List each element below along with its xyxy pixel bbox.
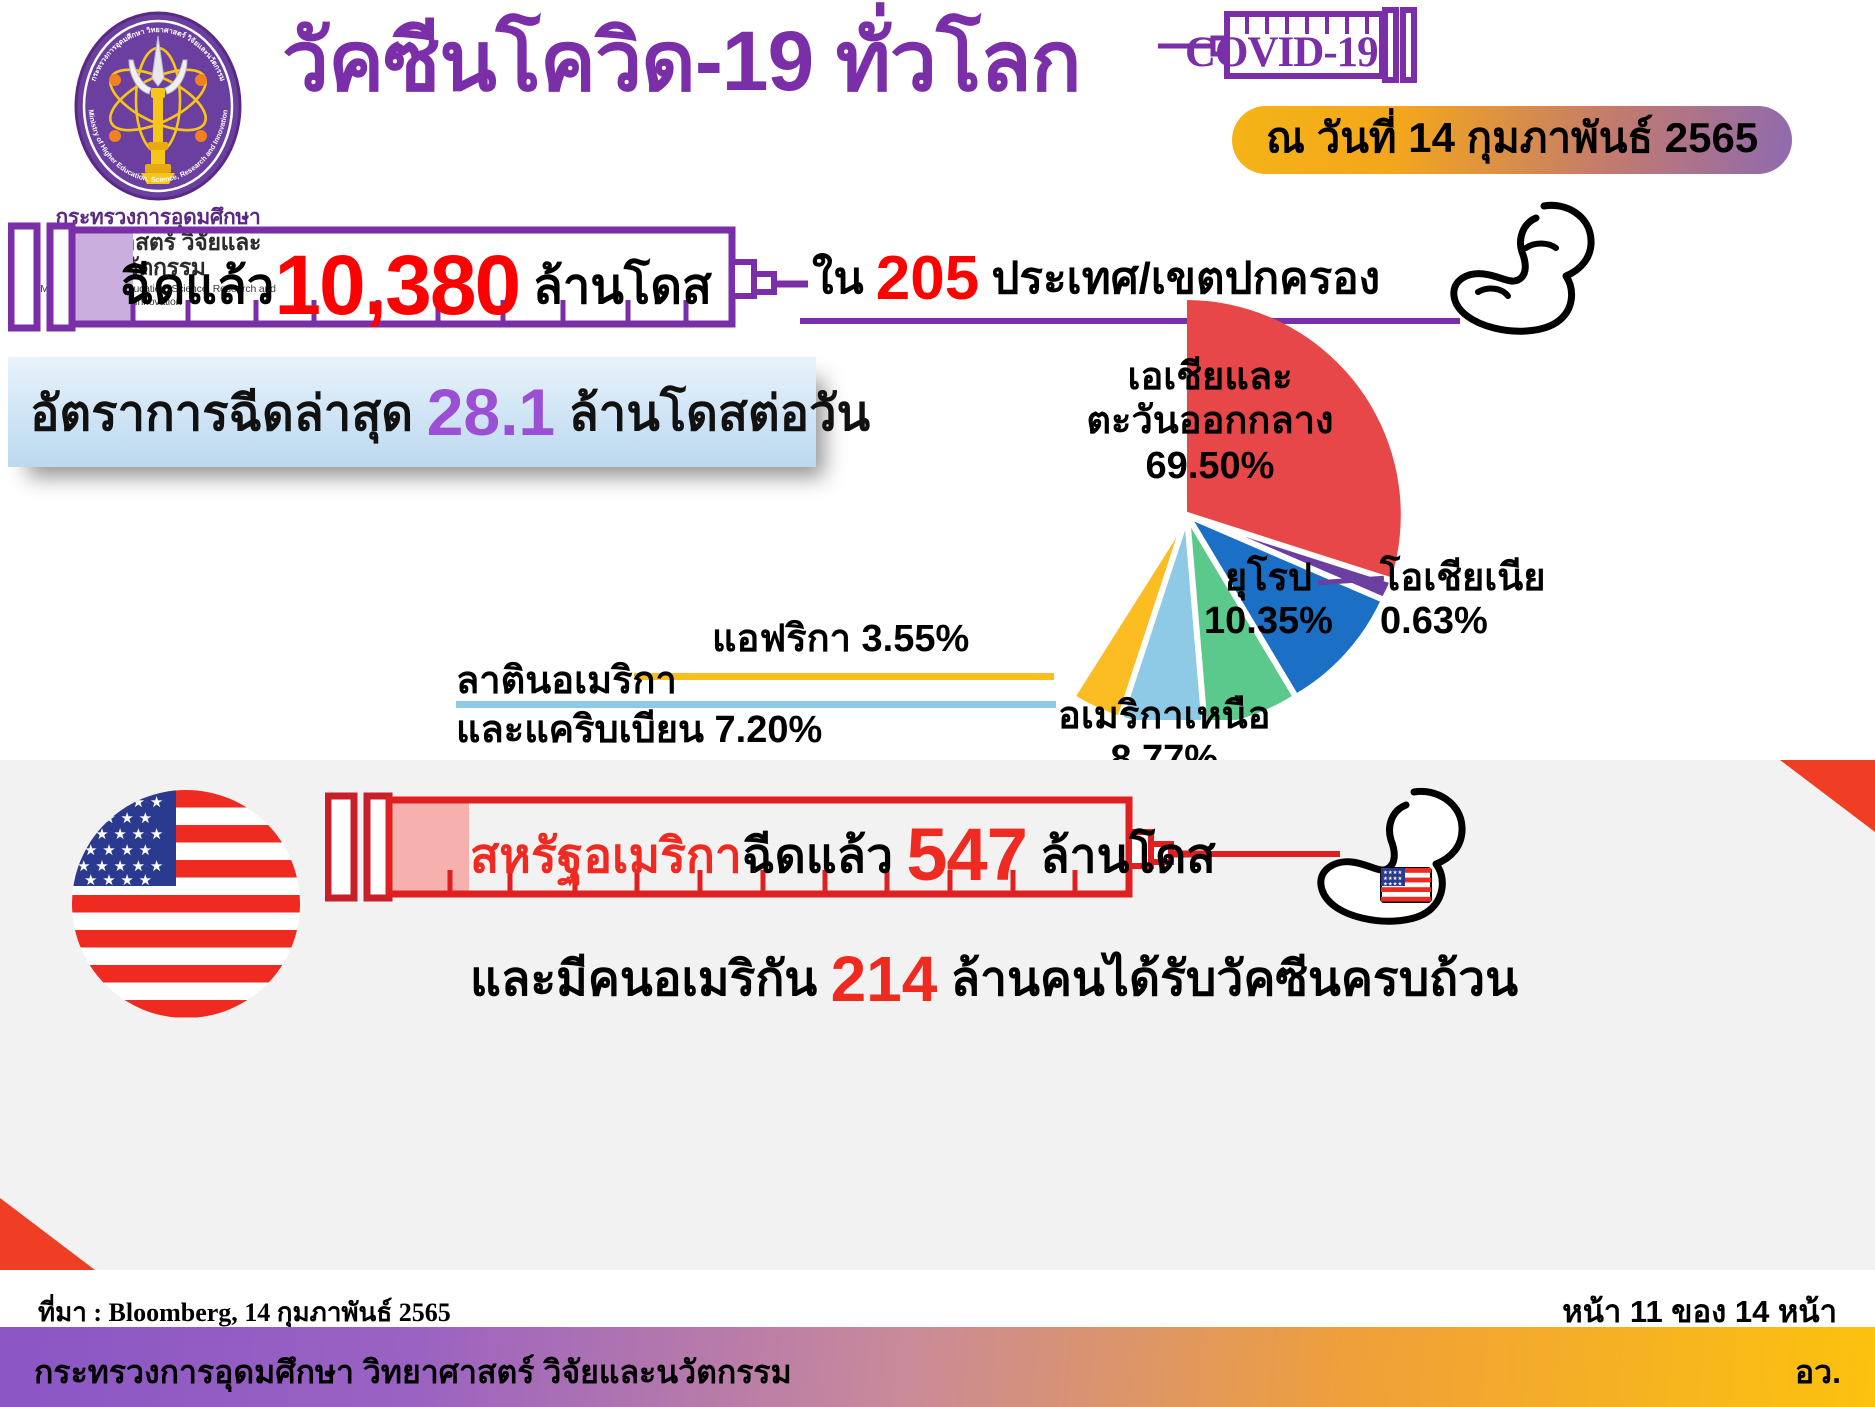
countries-prefix: ใน xyxy=(812,254,864,303)
pie-slice-label-asia-line2: ตะวันออกกลาง xyxy=(1060,399,1360,443)
usa-doses-prefix: ฉีดแล้ว xyxy=(742,830,893,883)
corner-decor-bottom-left xyxy=(0,1198,95,1270)
pie-slice-label-africa-text: แอฟริกา 3.55% xyxy=(712,618,969,660)
pie-slice-value-asia: 69.50% xyxy=(1060,444,1360,488)
pie-slice-label-europe: ยุโรป 10.35% xyxy=(1204,557,1333,642)
usa-fully-vaccinated-prefix: และมีคนอเมริกัน xyxy=(470,953,817,1006)
pie-slice-label-north-america-line1: อเมริกาเหนือ xyxy=(1058,695,1270,738)
page-title: วัคซีนโควิด-19 ทั่วโลก xyxy=(282,14,1081,108)
corner-decor-top-right xyxy=(1780,760,1875,832)
global-doses-text: ฉีดแล้ว10,380 ล้านโดส xyxy=(120,243,712,327)
covid-badge-label: COVID-19 xyxy=(1185,28,1378,77)
pie-leader-line-latin-america xyxy=(456,701,1056,708)
usa-fully-vaccinated-value: 214 xyxy=(831,943,938,1015)
usa-fully-vaccinated-suffix: ล้านคนได้รับวัคซีนครบถ้วน xyxy=(951,953,1518,1006)
countries-suffix: ประเทศ/เขตปกครอง xyxy=(991,254,1380,303)
usa-doses-text: สหรัฐอเมริกาฉีดแล้ว 547 ล้านโดส xyxy=(470,818,1216,892)
pie-slice-label-asia-line1: เอเชียและ xyxy=(1060,355,1360,399)
global-doses-prefix: ฉีดแล้ว xyxy=(120,260,274,314)
daily-rate-suffix: ล้านโดสต่อวัน xyxy=(569,387,870,441)
flexed-arm-usa-icon: ★★★★★★★★★★★★ xyxy=(1315,782,1470,927)
svg-text:★ ★ ★ ★: ★ ★ ★ ★ xyxy=(84,871,152,889)
svg-text:★★★★: ★★★★ xyxy=(1383,881,1402,887)
daily-rate-text: อัตราการฉีดล่าสุด 28.1 ล้านโดสต่อวัน xyxy=(30,379,870,445)
footer-bar: กระทรวงการอุดมศึกษา วิทยาศาสตร์ วิจัยและ… xyxy=(0,1327,1875,1407)
footer-ministry-name: กระทรวงการอุดมศึกษา วิทยาศาสตร์ วิจัยและ… xyxy=(34,1347,792,1398)
footer-ministry-abbr: อว. xyxy=(1795,1347,1841,1398)
pie-slice-label-africa: แอฟริกา 3.55% xyxy=(712,618,969,661)
global-doses-value: 10,380 xyxy=(274,238,519,332)
pie-slice-label-asia: เอเชียและ ตะวันออกกลาง 69.50% xyxy=(1060,355,1360,488)
pie-slice-label-oceania-line1: โอเชียเนีย xyxy=(1380,557,1546,600)
infographic-page: กระทรวงการอุดมศึกษา วิทยาศาสตร์ วิจัยและ… xyxy=(0,0,1875,1407)
flexed-arm-icon xyxy=(1448,196,1598,336)
pie-slice-value-oceania: 0.63% xyxy=(1380,600,1546,643)
pie-slice-label-latin-america-line1: ลาตินอเมริกา xyxy=(456,660,822,703)
pie-slice-label-oceania: โอเชียเนีย 0.63% xyxy=(1380,557,1546,642)
daily-rate-value: 28.1 xyxy=(427,375,555,449)
date-badge: ณ วันที่ 14 กุมภาพันธ์ 2565 xyxy=(1232,106,1792,174)
usa-flag-icon: ★ ★ ★ ★ ★ ★ ★ ★ ★ ★ ★ ★ ★ ★ ★ ★ ★ ★ ★ ★ … xyxy=(72,790,300,1018)
pie-slice-label-latin-america-line2: และแคริบเบียน 7.20% xyxy=(456,709,822,752)
usa-doses-suffix: ล้านโดส xyxy=(1040,830,1215,883)
usa-fully-vaccinated-text: และมีคนอเมริกัน 214 ล้านคนได้รับวัคซีนคร… xyxy=(470,947,1518,1011)
pie-slice-label-europe-line1: ยุโรป xyxy=(1204,557,1333,600)
ministry-seal-icon: กระทรวงการอุดมศึกษา วิทยาศาสตร์ วิจัยและ… xyxy=(63,8,253,204)
usa-country-label: สหรัฐอเมริกา xyxy=(470,830,742,883)
daily-rate-prefix: อัตราการฉีดล่าสุด xyxy=(30,387,413,441)
global-doses-suffix: ล้านโดส xyxy=(533,260,712,314)
usa-doses-value: 547 xyxy=(906,813,1026,896)
pie-slice-value-europe: 10.35% xyxy=(1204,600,1333,643)
